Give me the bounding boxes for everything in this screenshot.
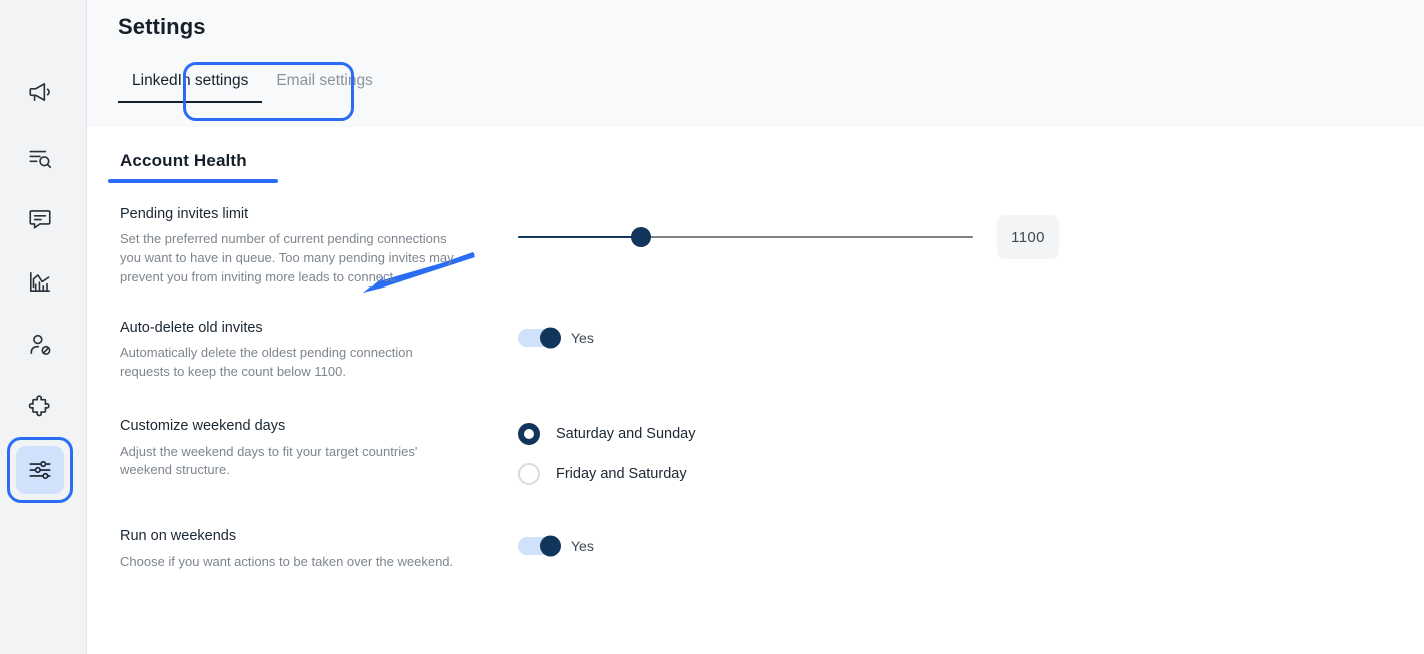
page-header: Settings LinkedIn settings Email setting… (87, 0, 1424, 127)
bar-chart-icon (27, 269, 53, 295)
sidebar-item-campaigns[interactable] (16, 68, 64, 116)
radio-option-saturday-sunday[interactable]: Saturday and Sunday (518, 423, 1424, 445)
page-title: Settings (118, 14, 206, 40)
sidebar-item-search[interactable] (16, 134, 64, 182)
setting-control-col: Yes (518, 319, 1424, 347)
setting-label-col: Customize weekend days Adjust the weeken… (120, 417, 518, 480)
settings-page: Settings LinkedIn settings Email setting… (0, 0, 1424, 654)
setting-name: Run on weekends (120, 527, 500, 545)
pending-invites-value[interactable]: 1100 (997, 215, 1059, 259)
settings-content: Account Health Pending invites limit Set… (87, 127, 1424, 654)
setting-control-col: Yes (518, 527, 1424, 555)
setting-description: Choose if you want actions to be taken o… (120, 553, 465, 572)
sliders-icon (27, 457, 53, 483)
setting-label-col: Run on weekends Choose if you want actio… (120, 527, 518, 571)
weekend-days-radio-group: Saturday and Sunday Friday and Saturday (518, 419, 1424, 485)
setting-control-col: 1100 (518, 205, 1424, 259)
radio-label: Saturday and Sunday (556, 426, 695, 442)
toggle-knob (540, 327, 561, 348)
run-on-weekends-toggle-group: Yes (518, 529, 1424, 555)
run-on-weekends-toggle[interactable] (518, 537, 560, 555)
tab-email-settings[interactable]: Email settings (262, 72, 386, 101)
sidebar-item-inbox[interactable] (16, 195, 64, 243)
slider-fill (518, 236, 641, 238)
main-panel: Settings LinkedIn settings Email setting… (87, 0, 1424, 654)
sidebar-item-blocklist[interactable] (16, 321, 64, 369)
puzzle-piece-icon (27, 394, 53, 420)
setting-description: Automatically delete the oldest pending … (120, 344, 465, 382)
radio-label: Friday and Saturday (556, 466, 687, 482)
account-health-section-header: Account Health (108, 151, 278, 183)
setting-description: Set the preferred number of current pend… (120, 230, 465, 287)
setting-description: Adjust the weekend days to fit your targ… (120, 443, 465, 481)
setting-row-pending-invites-limit: Pending invites limit Set the preferred … (87, 205, 1424, 287)
setting-name: Auto-delete old invites (120, 319, 500, 337)
radio-button[interactable] (518, 463, 540, 485)
sidebar-item-settings[interactable] (16, 446, 64, 494)
setting-row-run-on-weekends: Run on weekends Choose if you want actio… (87, 527, 1424, 571)
setting-row-auto-delete-old-invites: Auto-delete old invites Automatically de… (87, 319, 1424, 382)
setting-label-col: Auto-delete old invites Automatically de… (120, 319, 518, 382)
setting-row-customize-weekend-days: Customize weekend days Adjust the weeken… (87, 417, 1424, 503)
list-search-icon (27, 145, 53, 171)
settings-list: Pending invites limit Set the preferred … (87, 205, 1424, 571)
setting-name: Customize weekend days (120, 417, 500, 435)
chat-bubble-icon (27, 206, 53, 232)
sidebar-item-integrations[interactable] (16, 383, 64, 431)
slider-thumb[interactable] (631, 227, 651, 247)
setting-label-col: Pending invites limit Set the preferred … (120, 205, 518, 287)
setting-name: Pending invites limit (120, 205, 500, 223)
toggle-label: Yes (571, 330, 594, 346)
auto-delete-toggle[interactable] (518, 329, 560, 347)
auto-delete-toggle-group: Yes (518, 321, 1424, 347)
radio-option-friday-saturday[interactable]: Friday and Saturday (518, 463, 1424, 485)
toggle-label: Yes (571, 538, 594, 554)
tab-linkedin-settings[interactable]: LinkedIn settings (118, 72, 262, 103)
toggle-knob (540, 536, 561, 557)
section-underline (108, 179, 278, 183)
pending-invites-slider-group: 1100 (518, 207, 1424, 259)
setting-control-col: Saturday and Sunday Friday and Saturday (518, 417, 1424, 503)
section-title: Account Health (108, 151, 259, 179)
settings-tabs: LinkedIn settings Email settings (118, 72, 387, 103)
megaphone-icon (27, 79, 53, 105)
left-nav-rail (0, 0, 87, 654)
sidebar-item-analytics[interactable] (16, 258, 64, 306)
user-blocked-icon (27, 332, 53, 358)
radio-button[interactable] (518, 423, 540, 445)
pending-invites-slider[interactable] (518, 227, 973, 247)
